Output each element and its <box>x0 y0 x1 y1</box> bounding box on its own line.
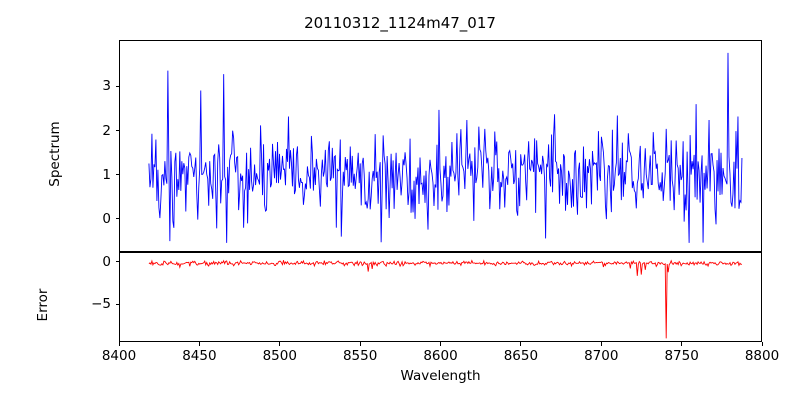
xtick-mark <box>279 342 280 346</box>
xtick-mark <box>762 342 763 346</box>
error-plot-area <box>119 252 762 342</box>
page-title: 20110312_1124m47_017 <box>0 14 800 32</box>
axis-label-wavelength: Wavelength <box>119 368 762 384</box>
xtick-label: 8400 <box>102 348 136 364</box>
xtick-label: 8750 <box>664 348 698 364</box>
xtick-mark <box>601 342 602 346</box>
xtick-mark <box>360 342 361 346</box>
ytick-label-spectrum: 2 <box>57 123 111 139</box>
ytick-mark-error <box>116 261 120 262</box>
xtick-mark <box>681 342 682 346</box>
ytick-mark-error <box>116 304 120 305</box>
ytick-label-error: −5 <box>57 296 111 312</box>
xtick-label: 8700 <box>584 348 618 364</box>
xtick-label: 8500 <box>263 348 297 364</box>
xtick-label: 8650 <box>504 348 538 364</box>
spectrum-plot-area <box>119 40 762 252</box>
xtick-mark <box>520 342 521 346</box>
axis-label-error: Error <box>35 245 51 365</box>
ytick-mark-spectrum <box>116 174 120 175</box>
ytick-mark-spectrum <box>116 218 120 219</box>
axis-label-spectrum: Spectrum <box>47 94 63 214</box>
xtick-mark <box>199 342 200 346</box>
figure-canvas: 20110312_1124m47_017 01230−5840084508500… <box>0 0 800 400</box>
ytick-label-spectrum: 1 <box>57 167 111 183</box>
xtick-mark <box>119 342 120 346</box>
xtick-label: 8600 <box>423 348 457 364</box>
xtick-label: 8450 <box>182 348 216 364</box>
ytick-label-spectrum: 3 <box>57 78 111 94</box>
error-trace <box>120 253 762 342</box>
xtick-mark <box>440 342 441 346</box>
xtick-label: 8550 <box>343 348 377 364</box>
spectrum-trace <box>120 41 762 252</box>
ytick-label-spectrum: 0 <box>57 211 111 227</box>
ytick-mark-spectrum <box>116 130 120 131</box>
xtick-label: 8800 <box>745 348 779 364</box>
ytick-label-error: 0 <box>57 254 111 270</box>
ytick-mark-spectrum <box>116 86 120 87</box>
